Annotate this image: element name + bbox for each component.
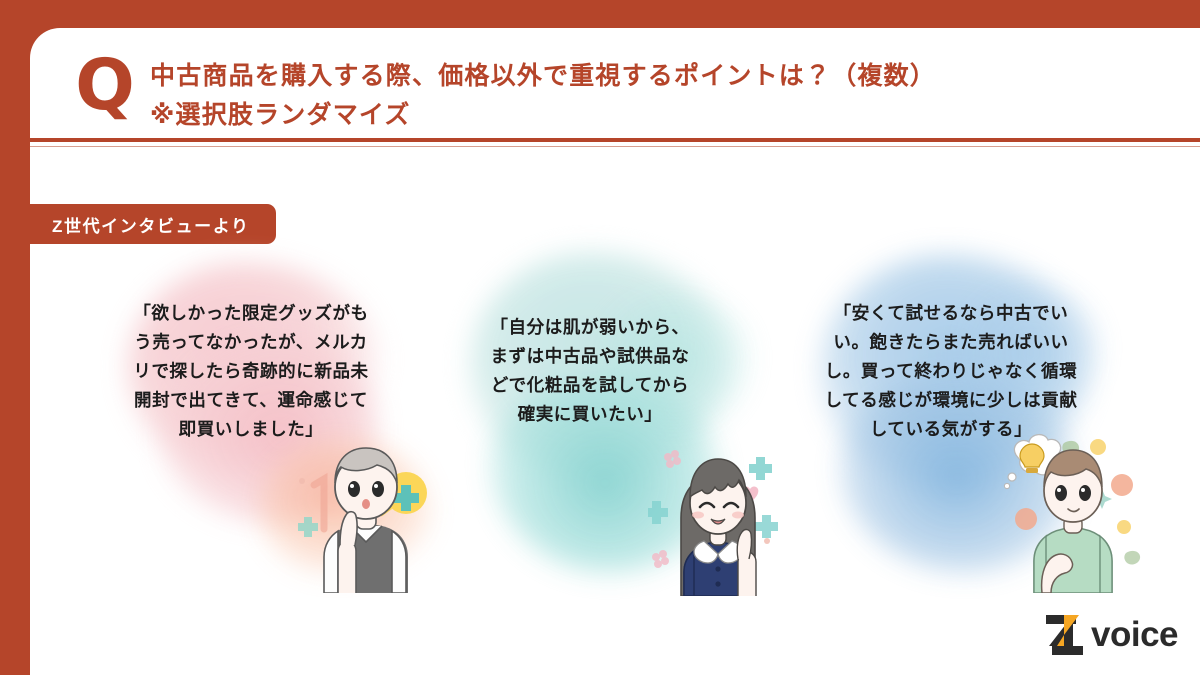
slide-header: Q 中古商品を購入する際、価格以外で重視するポイントは？（複数） ※選択肢ランダ… [30, 28, 1200, 140]
question-mark-icon: Q [74, 54, 136, 116]
quote-card-pink: 「欲しかった限定グッズがもう売ってなかったが、メルカリで探したら奇跡的に新品未開… [110, 253, 460, 593]
z-mark-icon [1043, 613, 1085, 657]
quote-text-pink: 「欲しかった限定グッズがもう売ってなかったが、メルカリで探したら奇跡的に新品未開… [132, 299, 370, 444]
brand-logo-wordmark: voice [1091, 617, 1178, 653]
page-title: 中古商品を購入する際、価格以外で重視するポイントは？（複数） ※選択肢ランダマイ… [150, 57, 1160, 135]
quote-card-group: 「欲しかった限定グッズがもう売ってなかったが、メルカリで探したら奇跡的に新品未開… [30, 253, 1200, 653]
content-panel: Q 中古商品を購入する際、価格以外で重視するポイントは？（複数） ※選択肢ランダ… [30, 28, 1200, 675]
illustration-boy-pointing-up [288, 433, 428, 593]
illustration-girl-long-hair [648, 441, 788, 596]
slide-root: Q 中古商品を購入する際、価格以外で重視するポイントは？（複数） ※選択肢ランダ… [0, 0, 1200, 675]
illustration-boy-thinking [998, 433, 1148, 593]
brand-logo: voice [1043, 613, 1178, 657]
quote-text-blue: 「安くて試せるなら中古でいい。飽きたらまた売ればいいし。買って終わりじゃなく循環… [820, 299, 1082, 444]
section-badge: Z世代インタビューより [30, 204, 276, 244]
section-badge-label: Z世代インタビューより [52, 212, 250, 237]
quote-card-blue: 「安くて試せるなら中古でいい。飽きたらまた売ればいいし。買って終わりじゃなく循環… [810, 253, 1160, 593]
header-divider-thick [30, 138, 1200, 142]
quote-text-teal: 「自分は肌が弱いから、まずは中古品や試供品などで化粧品を試してから確実に買いたい… [490, 313, 690, 429]
header-divider-thin [30, 146, 1200, 147]
quote-card-teal: 「自分は肌が弱いから、まずは中古品や試供品などで化粧品を試してから確実に買いたい… [460, 253, 810, 593]
page-title-line-2: ※選択肢ランダマイズ [150, 96, 1160, 135]
page-title-line-1: 中古商品を購入する際、価格以外で重視するポイントは？（複数） [150, 57, 1160, 96]
